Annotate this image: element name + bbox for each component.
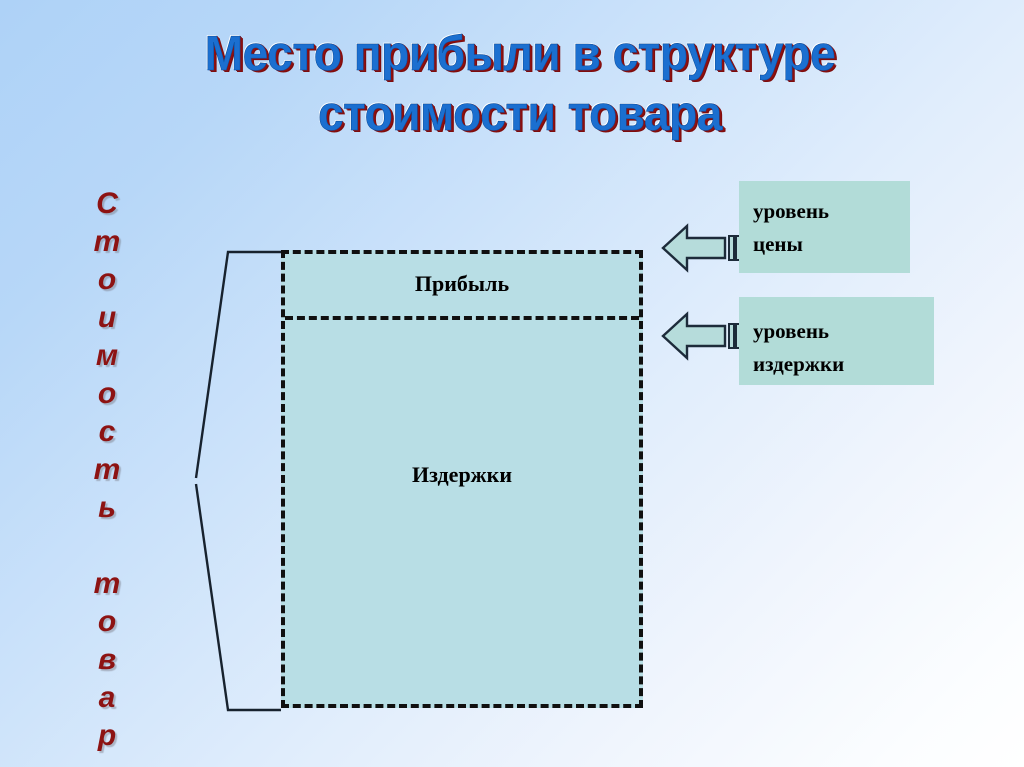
cost-label: Издержки: [412, 462, 512, 488]
vertical-caption-char: ь: [62, 489, 152, 527]
callout-cost-level-text: уровень издержки: [753, 315, 934, 381]
brace-bracket: [188, 243, 292, 719]
cost-segment: Издержки: [285, 320, 639, 704]
vertical-caption-char: о: [62, 261, 152, 299]
callout-price-level-text: уровень цены: [753, 195, 910, 261]
vertical-caption-char: и: [62, 299, 152, 337]
vertical-caption-char: м: [62, 337, 152, 375]
vertical-caption-char: о: [62, 375, 152, 413]
profit-segment: Прибыль: [285, 254, 639, 320]
vertical-caption: С т о и м о с т ь т о в а р а: [62, 185, 152, 767]
left-arrow-icon: [661, 309, 745, 363]
vertical-caption-char: С: [62, 185, 152, 223]
vertical-caption-char: в: [62, 641, 152, 679]
left-arrow-icon: [661, 221, 745, 275]
slide-canvas: Место прибыли в структуре стоимости това…: [0, 0, 1024, 767]
vertical-caption-char: т: [62, 451, 152, 489]
page-title: Место прибыли в структуре стоимости това…: [172, 24, 868, 144]
vertical-caption-char: с: [62, 413, 152, 451]
vertical-caption-space: [62, 527, 152, 565]
vertical-caption-char: т: [62, 223, 152, 261]
profit-label: Прибыль: [415, 271, 509, 297]
callout-price-level: уровень цены: [739, 181, 910, 273]
cost-structure-box: Прибыль Издержки: [281, 250, 643, 708]
vertical-caption-char: р: [62, 717, 152, 755]
callout-cost-level: уровень издержки: [739, 297, 934, 385]
vertical-caption-char: а: [62, 679, 152, 717]
vertical-caption-char: о: [62, 603, 152, 641]
vertical-caption-char: т: [62, 565, 152, 603]
vertical-caption-char: а: [62, 755, 152, 767]
